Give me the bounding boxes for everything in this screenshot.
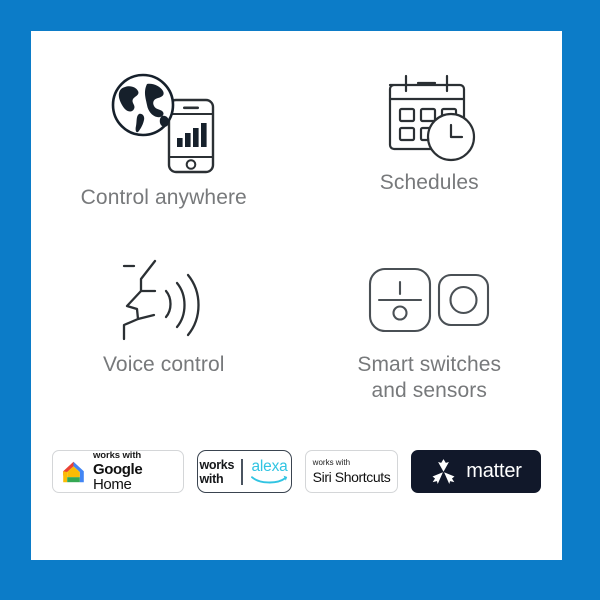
white-card: Control anywhere: [31, 31, 562, 560]
blue-frame: Control anywhere: [0, 0, 600, 600]
works-line-1: works: [199, 458, 234, 472]
feature-schedules: Schedules: [297, 69, 563, 254]
feature-label: Smart switches and sensors: [357, 352, 501, 404]
alexa-smile-icon: [250, 474, 290, 485]
feature-control-anywhere: Control anywhere: [31, 69, 297, 254]
compatibility-badges: works with Google Home works with alexa: [31, 450, 562, 493]
globe-and-phone-icon: [105, 69, 223, 179]
feature-smart-switches: Smart switches and sensors: [297, 254, 563, 419]
matter-badge[interactable]: matter: [411, 450, 541, 493]
switch-and-sensor-icon: [366, 254, 492, 346]
google-home-house-icon: [61, 460, 86, 484]
alexa-works-with-text: works with: [199, 458, 241, 486]
brand-name: Google Home: [93, 462, 175, 492]
works-with-label: works with: [93, 451, 175, 461]
speaking-head-icon: [114, 254, 214, 346]
feature-voice-control: Voice control: [31, 254, 297, 419]
works-line-2: with: [199, 472, 223, 486]
feature-label: Schedules: [380, 170, 479, 196]
alexa-wordmark: alexa: [251, 459, 287, 474]
feature-grid: Control anywhere: [31, 69, 562, 419]
matter-arrows-icon: [430, 458, 457, 485]
brand-name: Siri Shortcuts: [313, 470, 391, 484]
google-home-badge[interactable]: works with Google Home: [52, 450, 184, 493]
feature-label: Control anywhere: [81, 185, 247, 211]
feature-label: Voice control: [103, 352, 225, 378]
alexa-logo: alexa: [243, 459, 290, 485]
brand-home: Home: [93, 476, 131, 493]
siri-text: works with Siri Shortcuts: [313, 459, 391, 484]
google-home-text: works with Google Home: [93, 451, 175, 493]
siri-shortcuts-badge[interactable]: works with Siri Shortcuts: [305, 450, 398, 493]
matter-wordmark: matter: [466, 460, 521, 483]
works-with-label: works with: [313, 459, 350, 467]
works-with-alexa-badge[interactable]: works with alexa: [197, 450, 292, 493]
calendar-clock-icon: [378, 69, 480, 164]
